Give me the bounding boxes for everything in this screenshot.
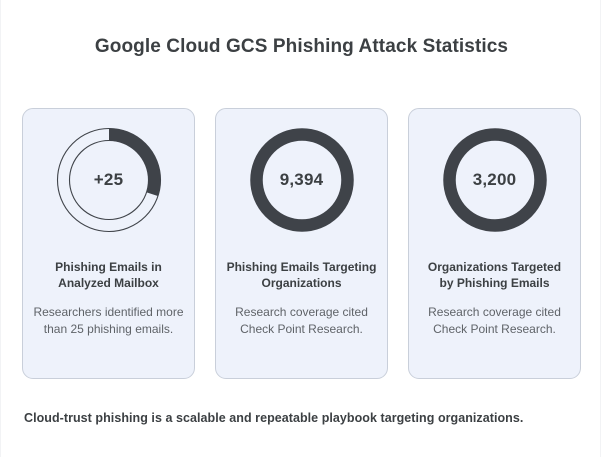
donut-value-organizations-targeted: 3,200 — [437, 122, 553, 238]
donut-chart-targeting-organizations: 9,394 — [244, 122, 360, 238]
donut-chart-organizations-targeted: 3,200 — [437, 122, 553, 238]
stat-card-description-targeting-organizations: Research coverage cited Check Point Rese… — [226, 304, 378, 338]
stat-card-label-organizations-targeted: Organizations Targeted by Phishing Email… — [420, 259, 570, 291]
infographic-page: Google Cloud GCS Phishing Attack Statist… — [0, 0, 601, 457]
stat-card-phishing-emails-targeting-organizations[interactable]: 9,394 Phishing Emails Targeting Organiza… — [215, 108, 388, 379]
page-title: Google Cloud GCS Phishing Attack Statist… — [1, 36, 601, 58]
stat-card-organizations-targeted-by-phishing-emails[interactable]: 3,200 Organizations Targeted by Phishing… — [408, 108, 581, 379]
footer-note: Cloud-trust phishing is a scalable and r… — [24, 411, 584, 425]
donut-chart-analyzed-mailbox: +25 — [51, 122, 167, 238]
donut-value-targeting-organizations: 9,394 — [244, 122, 360, 238]
stat-card-description-analyzed-mailbox: Researchers identified more than 25 phis… — [33, 304, 185, 338]
donut-value-analyzed-mailbox: +25 — [51, 122, 167, 238]
stat-cards-row: +25 Phishing Emails in Analyzed Mailbox … — [22, 108, 581, 379]
stat-card-description-organizations-targeted: Research coverage cited Check Point Rese… — [419, 304, 571, 338]
stat-card-label-targeting-organizations: Phishing Emails Targeting Organizations — [227, 259, 377, 291]
stat-card-label-analyzed-mailbox: Phishing Emails in Analyzed Mailbox — [34, 259, 184, 291]
stat-card-phishing-emails-analyzed-mailbox[interactable]: +25 Phishing Emails in Analyzed Mailbox … — [22, 108, 195, 379]
